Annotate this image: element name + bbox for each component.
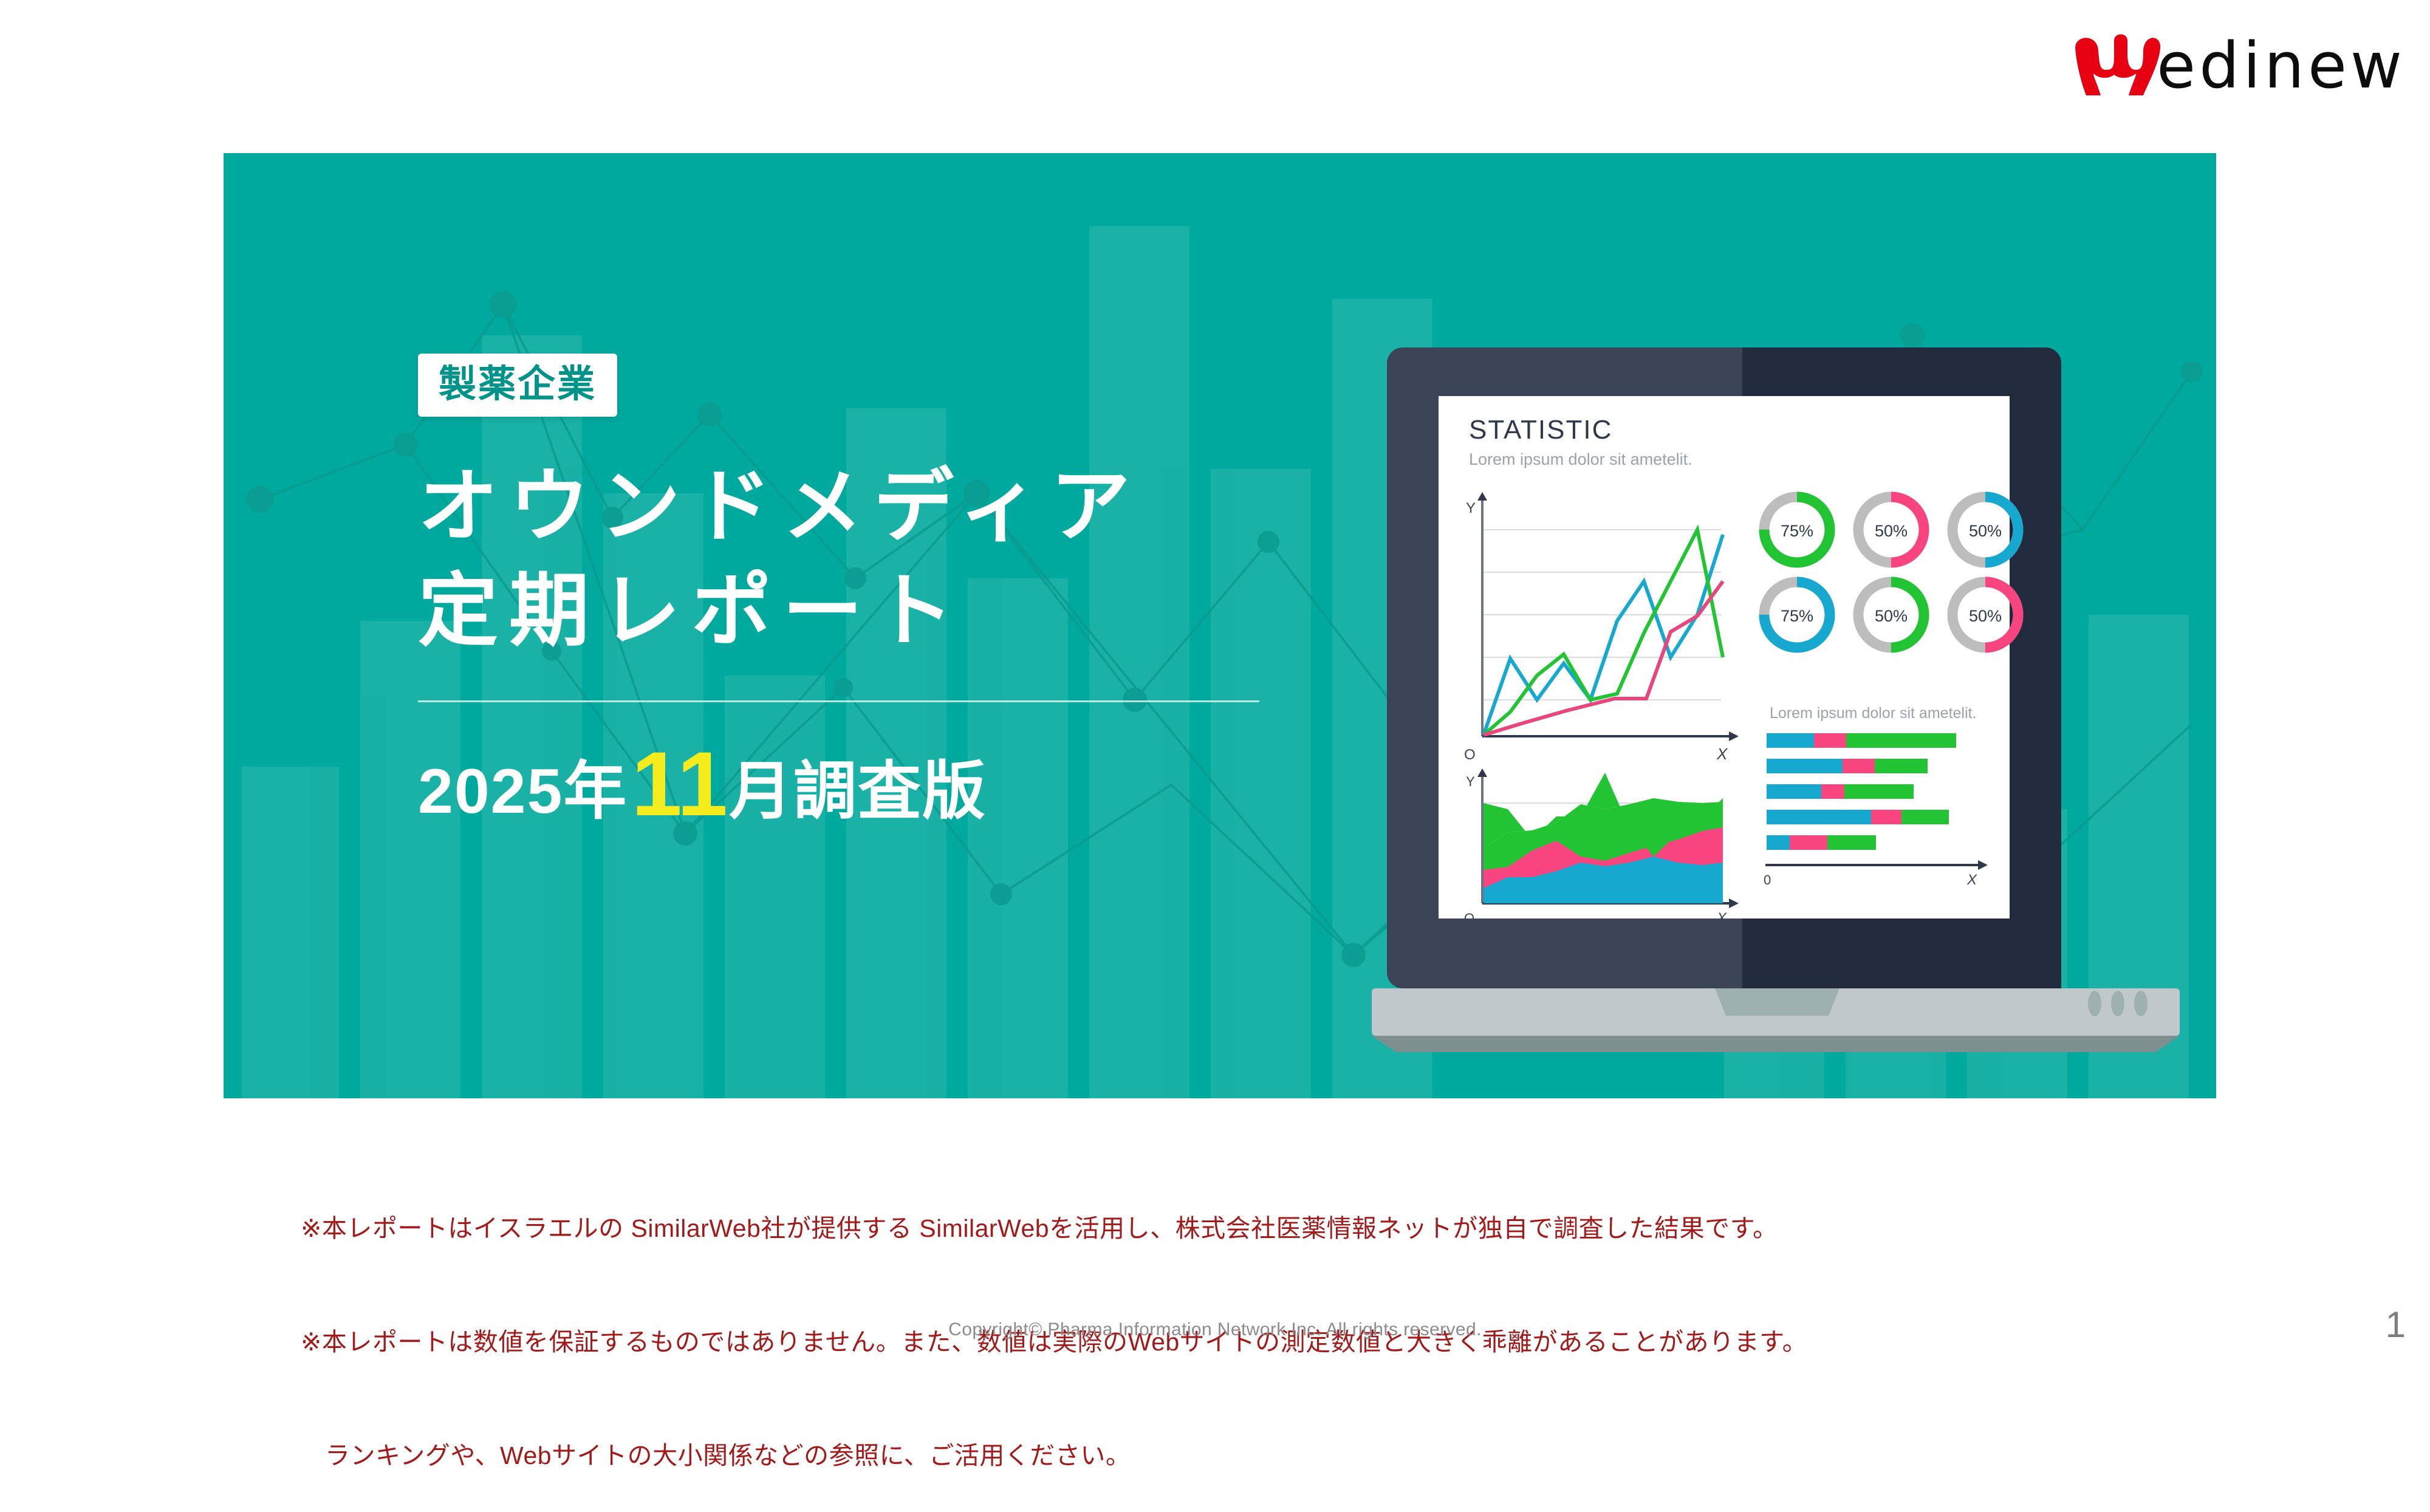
svg-text:O: O (1464, 911, 1474, 926)
footnote-line-3: ランキングや、Webサイトの大小関係などの参照に、ご活用ください。 (301, 1437, 1807, 1474)
svg-text:75%: 75% (1781, 522, 1813, 540)
screen-heading: STATISTIC (1469, 415, 1612, 445)
survey-date: 2025年 11 月調査版 (418, 745, 1366, 823)
svg-text:50%: 50% (1875, 607, 1908, 625)
screen-subheading: Lorem ipsum dolor sit ametelit. (1469, 450, 1692, 468)
svg-text:Y: Y (1466, 774, 1475, 789)
survey-month: 11 (631, 745, 728, 823)
survey-suffix: 月調査版 (729, 760, 987, 823)
footnote-line-1: ※本レポートはイスラエルの SimilarWeb社が提供する SimilarWe… (301, 1209, 1807, 1247)
svg-text:50%: 50% (1969, 522, 2002, 540)
svg-text:X: X (1966, 872, 1977, 888)
page-title: オウンドメディア 定期レポート (418, 454, 1366, 663)
svg-text:X: X (1716, 910, 1727, 926)
laptop-graphic: STATISTIC Lorem ipsum dolor sit ametelit… (1372, 347, 2180, 1052)
medinew-m-icon (2069, 30, 2160, 101)
survey-year: 2025年 (418, 760, 628, 823)
svg-text:X: X (1716, 745, 1728, 763)
svg-text:0: 0 (1764, 872, 1771, 888)
hero-text-block: 製薬企業 オウンドメディア 定期レポート 2025年 11 月調査版 (418, 354, 1366, 823)
category-badge: 製薬企業 (418, 354, 617, 417)
svg-text:O: O (1464, 747, 1476, 763)
svg-text:75%: 75% (1781, 607, 1813, 625)
svg-text:Lorem ipsum dolor sit ametelit: Lorem ipsum dolor sit ametelit. (1770, 705, 1976, 722)
brand-logo: edinew (2069, 29, 2406, 102)
hero-panel: 製薬企業 オウンドメディア 定期レポート 2025年 11 月調査版 STATI… (224, 153, 2216, 1098)
brand-logo-text: edinew (2157, 34, 2406, 97)
title-divider (418, 700, 1259, 702)
copyright-notice: Copyright© Pharma Information Network In… (0, 1319, 2430, 1340)
svg-text:Y: Y (1466, 500, 1476, 516)
svg-text:50%: 50% (1969, 607, 2002, 625)
laptop-illustration: STATISTIC Lorem ipsum dolor sit ametelit… (1372, 347, 2180, 1052)
svg-text:50%: 50% (1875, 522, 1908, 540)
page-number: 1 (2386, 1304, 2406, 1346)
